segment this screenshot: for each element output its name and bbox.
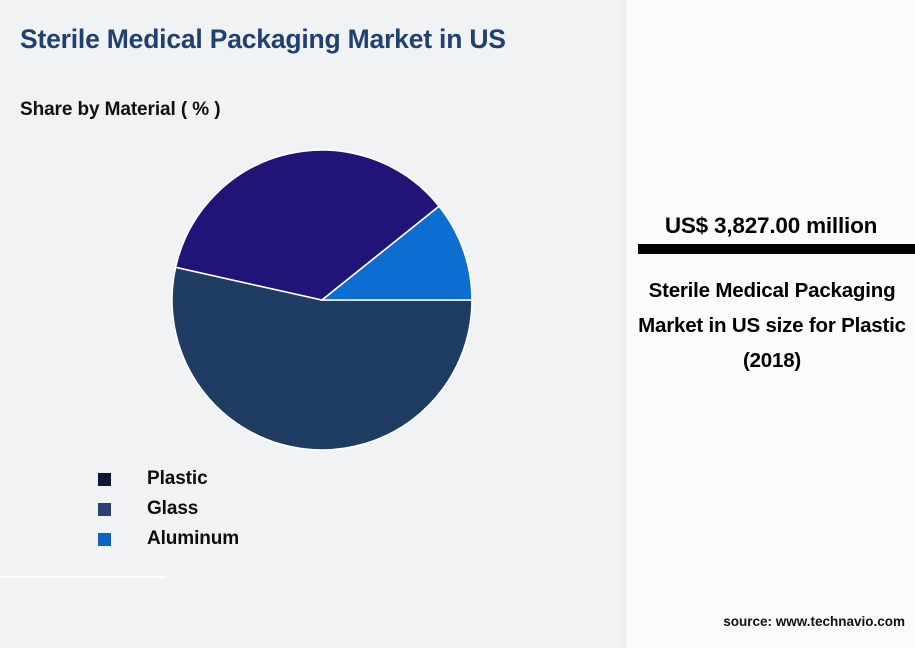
legend-label-plastic: Plastic	[147, 468, 208, 490]
legend-swatch-glass	[98, 503, 111, 516]
legend-item-plastic[interactable]: Plastic	[98, 464, 498, 494]
legend-label-aluminum: Aluminum	[147, 528, 239, 550]
kpi-underline-bar	[638, 244, 915, 254]
chart-legend: Plastic Glass Aluminum	[98, 464, 498, 554]
legend-label-glass: Glass	[147, 498, 198, 520]
kpi-caption: Sterile Medical Packaging Market in US s…	[637, 273, 907, 378]
legend-item-glass[interactable]: Glass	[98, 494, 498, 524]
source-note: source: www.technavio.com	[627, 614, 905, 629]
pie-chart	[163, 141, 481, 459]
kpi-value: US$ 3,827.00 million	[627, 213, 915, 239]
legend-swatch-plastic	[98, 473, 111, 486]
page-title: Sterile Medical Packaging Market in US	[20, 24, 580, 54]
chart-subtitle: Share by Material ( % )	[20, 99, 220, 121]
pie-chart-svg	[163, 141, 481, 459]
legend-item-aluminum[interactable]: Aluminum	[98, 524, 498, 554]
infographic-canvas: Sterile Medical Packaging Market in US S…	[0, 0, 915, 648]
footer-rule	[0, 576, 166, 578]
legend-swatch-aluminum	[98, 533, 111, 546]
